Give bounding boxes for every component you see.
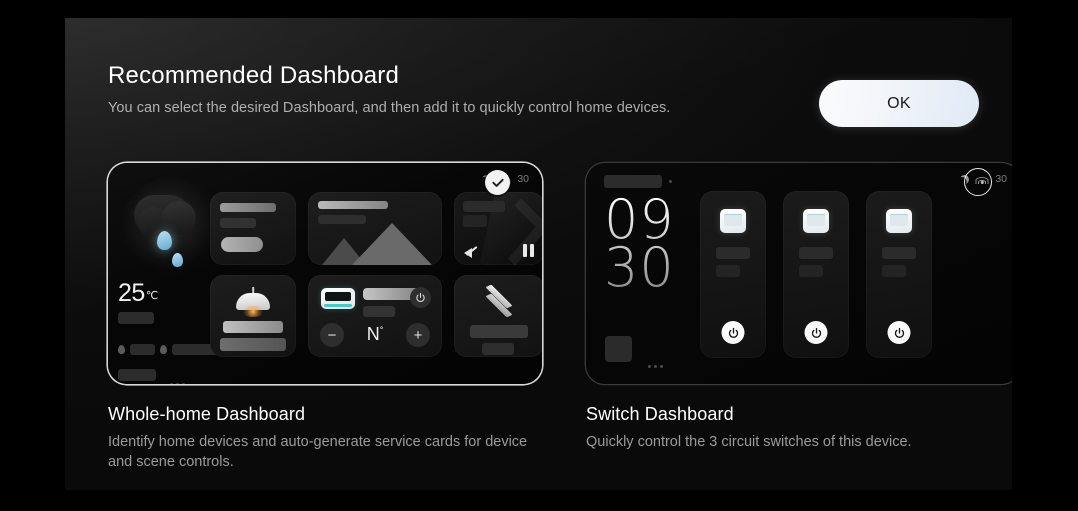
page-title: Recommended Dashboard (108, 62, 670, 90)
screen: Recommended Dashboard You can select the… (0, 0, 1078, 511)
thermostat-tile[interactable]: − N° + (308, 275, 442, 357)
battery-level: 30 (995, 173, 1007, 185)
dashboard-options-list: 30 25℃ (108, 163, 1012, 472)
rocker-switch-icon (720, 209, 746, 233)
dashboard-option-whole-home[interactable]: 30 25℃ (108, 163, 542, 472)
temperature-value: 25℃ (118, 279, 158, 308)
preview-header-placeholder (604, 175, 672, 188)
switch-panel-1[interactable] (700, 191, 766, 358)
droplet-icon (118, 345, 125, 354)
speaker-mute-icon[interactable] (464, 245, 478, 257)
image-tile[interactable] (308, 192, 442, 265)
power-icon[interactable] (888, 321, 911, 344)
temperature-unit: ℃ (146, 290, 158, 302)
placeholder-bar (118, 369, 156, 381)
switch-preview[interactable]: 30 09 30 (586, 163, 1012, 384)
media-tile[interactable] (454, 192, 542, 265)
pause-icon[interactable] (523, 244, 534, 257)
battery-level: 30 (517, 173, 529, 185)
placeholder-bar (130, 344, 155, 355)
device-tile[interactable] (210, 192, 296, 265)
mountain-image-icon (308, 223, 442, 265)
option-title: Switch Dashboard (586, 403, 1012, 425)
dialog-subtitle: You can select the desired Dashboard, an… (108, 99, 670, 117)
option-description: Quickly control the 3 circuit switches o… (586, 432, 1006, 452)
pendant-lamp-icon (236, 287, 270, 315)
rocker-switch-icon (803, 209, 829, 233)
light-tile[interactable] (210, 275, 296, 357)
power-icon[interactable] (410, 287, 431, 308)
recommended-dashboard-dialog: Recommended Dashboard You can select the… (65, 18, 1012, 490)
ok-button[interactable]: OK (819, 80, 979, 127)
selected-check-icon[interactable] (485, 170, 510, 195)
whole-home-preview[interactable]: 30 25℃ (108, 163, 542, 384)
option-description: Identify home devices and auto-generate … (108, 432, 528, 472)
switch-panel-2[interactable] (783, 191, 849, 358)
pager-dots (648, 365, 663, 368)
dialog-header: Recommended Dashboard You can select the… (108, 62, 670, 117)
droplet-icon (160, 345, 167, 354)
rain-cloud-icon (112, 185, 222, 280)
unselected-radio-icon[interactable] (964, 168, 992, 196)
layers-icon (484, 291, 514, 315)
option-title: Whole-home Dashboard (108, 403, 542, 425)
temperature-increase-button[interactable]: + (406, 323, 430, 347)
dashboard-option-switch[interactable]: 30 09 30 (586, 163, 1012, 472)
placeholder-bar (118, 312, 154, 324)
air-conditioner-icon (321, 288, 355, 309)
placeholder-square (605, 336, 632, 362)
clock-display: 09 30 (604, 196, 675, 292)
pager-dots (170, 383, 185, 384)
power-icon[interactable] (805, 321, 828, 344)
switch-panel-3[interactable] (866, 191, 932, 358)
switch-panel-row (700, 191, 932, 358)
clock-minutes: 30 (604, 244, 675, 292)
weather-detail-row (118, 344, 218, 355)
scene-tile[interactable] (454, 275, 542, 357)
power-icon[interactable] (722, 321, 745, 344)
rocker-switch-icon (886, 209, 912, 233)
